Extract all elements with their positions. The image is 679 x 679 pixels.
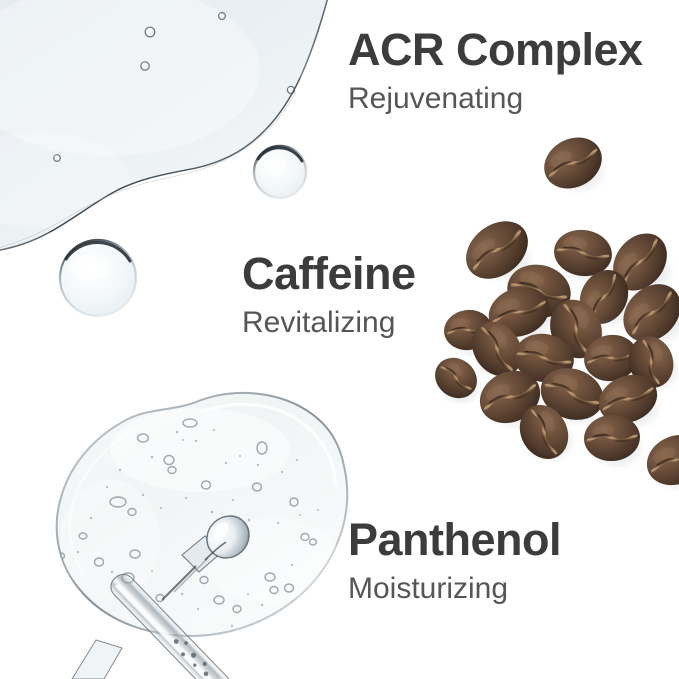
bean [472, 362, 549, 433]
bean [441, 307, 494, 353]
bean [510, 329, 577, 387]
bean [551, 226, 615, 280]
bean [602, 223, 678, 301]
bean [541, 291, 611, 366]
bean [639, 426, 679, 494]
gel-bubbles [58, 419, 317, 613]
bean [612, 273, 679, 354]
serum-bubbles [54, 13, 295, 162]
ingredient-title-caffeine: Caffeine [242, 251, 416, 296]
ingredient-block-panthenol: Panthenol Moisturizing [348, 517, 561, 604]
coffee-bean-cluster [427, 128, 679, 495]
bean [582, 413, 641, 463]
ingredient-subtitle-panthenol: Moisturizing [348, 574, 561, 604]
bean [533, 360, 610, 429]
gel-swatch-graphic [57, 393, 348, 636]
ingredient-subtitle-acr-complex: Rejuvenating [348, 84, 643, 114]
bean [592, 366, 665, 431]
bean [580, 331, 641, 386]
glass-dropper-pipette [72, 507, 258, 679]
bean [511, 396, 578, 467]
infographic-canvas: ACR Complex Rejuvenating Caffeine Revita… [0, 0, 679, 679]
ingredient-title-panthenol: Panthenol [348, 517, 561, 562]
bean [427, 349, 485, 406]
droplet-lower-left [60, 240, 136, 316]
ingredient-block-caffeine: Caffeine Revitalizing [242, 251, 416, 338]
bean-shadows [436, 147, 679, 495]
bean [455, 209, 539, 290]
droplet-upper-right [254, 146, 306, 198]
bean [502, 258, 577, 324]
ingredient-subtitle-caffeine: Revitalizing [242, 308, 416, 338]
bean [571, 261, 638, 332]
ingredient-title-acr-complex: ACR Complex [348, 27, 643, 72]
serum-spill-graphic [0, 0, 330, 252]
bean [482, 279, 557, 345]
ingredient-block-acr-complex: ACR Complex Rejuvenating [348, 27, 643, 114]
bean [622, 330, 679, 393]
bean [462, 312, 533, 386]
bean [535, 128, 611, 199]
